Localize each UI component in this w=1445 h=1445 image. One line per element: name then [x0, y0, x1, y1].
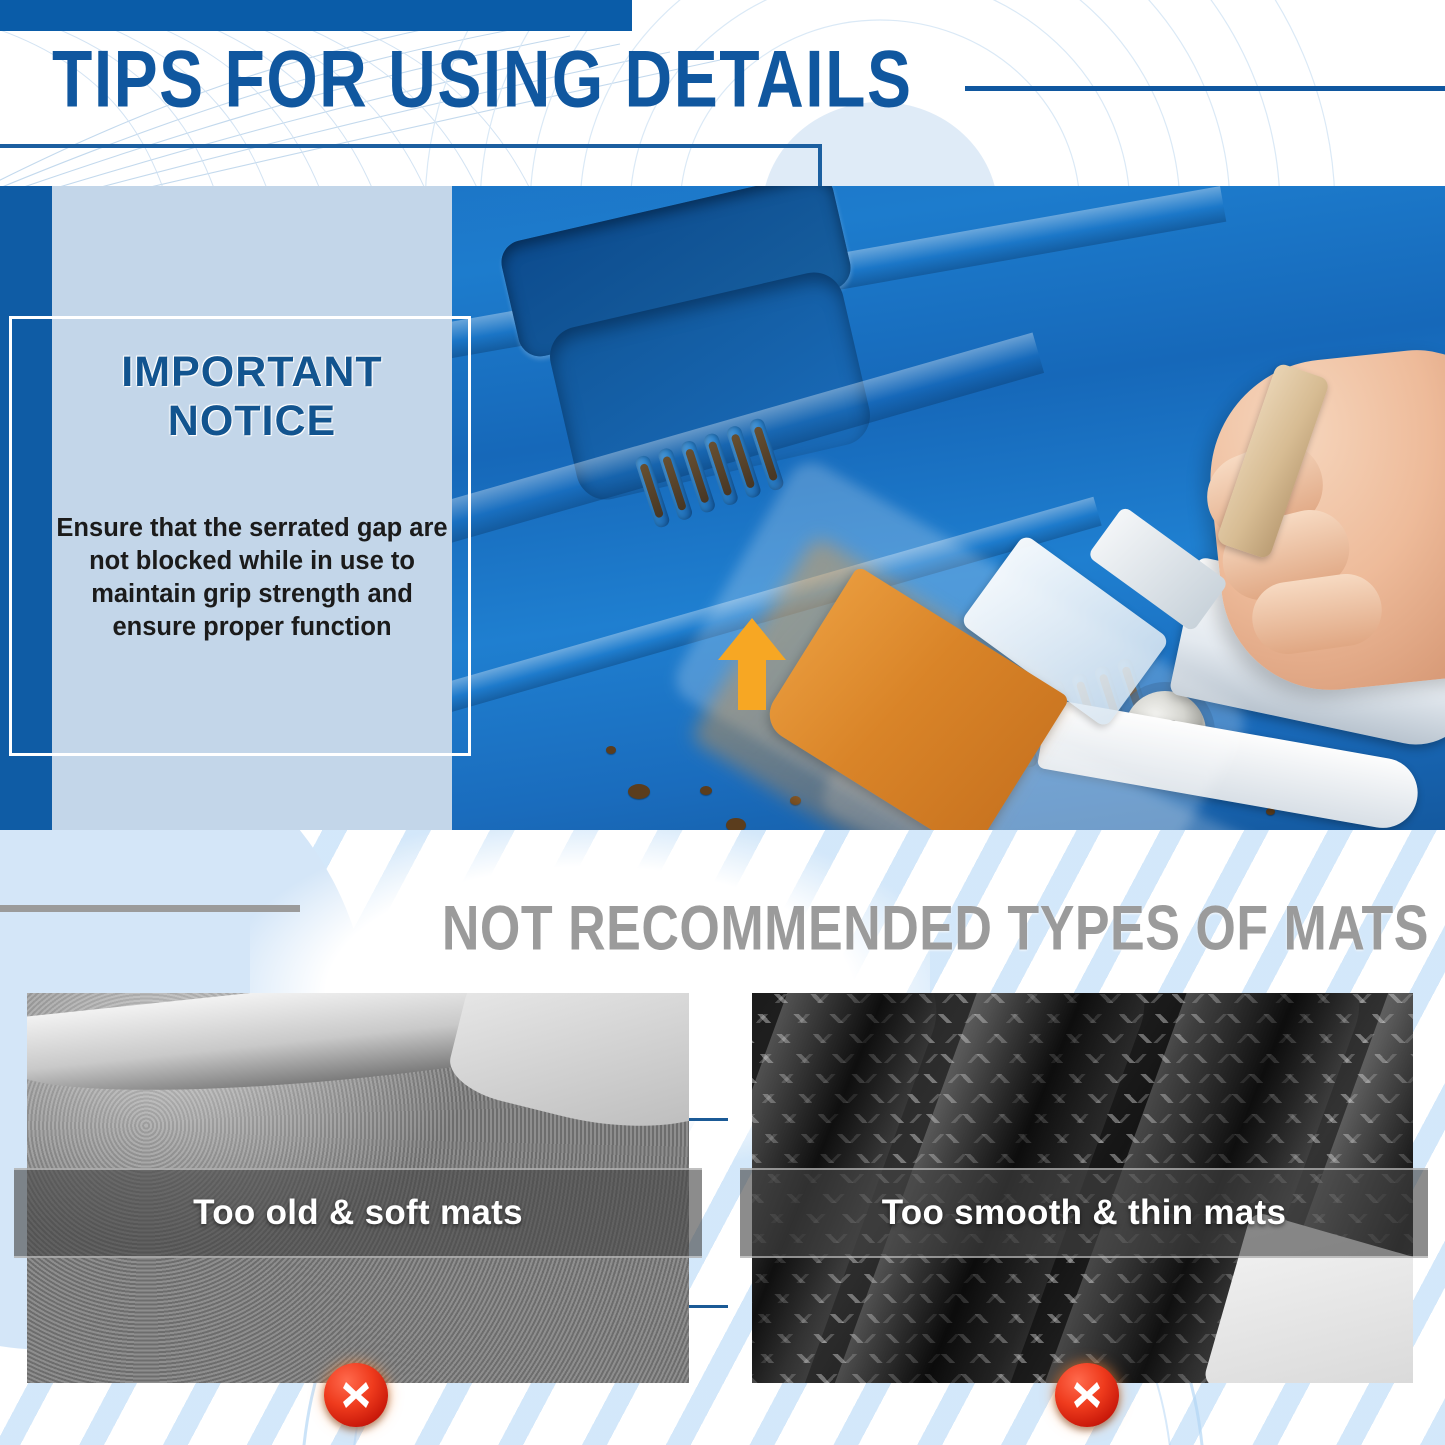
- arrow-up-icon: [716, 616, 788, 712]
- title-rule-bottom: [0, 144, 822, 148]
- not-recommended-section: NOT RECOMMENDED TYPES OF MATS: [0, 830, 1445, 1445]
- infographic-page: TIPS FOR USING DETAILS: [0, 0, 1445, 1445]
- notice-title: IMPORTANT NOTICE: [62, 348, 442, 447]
- x-circle-icon-right: [1055, 1363, 1119, 1427]
- top-accent-bar: [0, 0, 632, 31]
- mat-label-smooth-thin: Too smooth & thin mats: [882, 1193, 1287, 1233]
- title-rule-tick: [818, 144, 822, 190]
- notice-body-text: Ensure that the serrated gap are not blo…: [56, 512, 448, 645]
- mat-label-old-soft: Too old & soft mats: [193, 1193, 523, 1233]
- connector-line-top: [688, 1118, 728, 1121]
- notice-title-line1: IMPORTANT: [62, 348, 442, 397]
- x-circle-icon-left: [324, 1363, 388, 1427]
- tips-section: TIPS FOR USING DETAILS: [0, 0, 1445, 830]
- connector-line-bottom: [688, 1305, 728, 1308]
- title-rule-right: [965, 86, 1445, 91]
- mat-label-band-right: Too smooth & thin mats: [740, 1168, 1428, 1258]
- notice-title-line2: NOTICE: [62, 397, 442, 446]
- mat-label-band-left: Too old & soft mats: [14, 1168, 702, 1258]
- subtitle-rule: [0, 905, 300, 912]
- page-title: TIPS FOR USING DETAILS: [52, 38, 912, 119]
- section-subtitle: NOT RECOMMENDED TYPES OF MATS: [442, 892, 1429, 965]
